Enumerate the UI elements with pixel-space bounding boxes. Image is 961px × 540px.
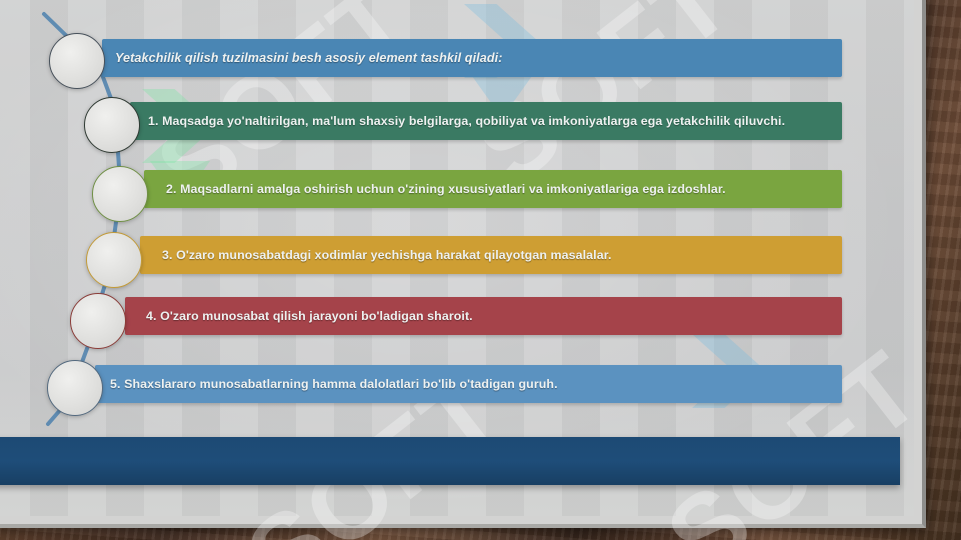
slide-content: Yetakchilik qilish tuzilmasini besh asos… xyxy=(0,0,914,516)
node-circle-2[interactable] xyxy=(92,166,148,222)
presentation-photo: SOFT SOFT SOFT SOFT xyxy=(0,0,961,540)
item-label-3: 3. O'zaro munosabatdagi xodimlar yechish… xyxy=(162,248,611,262)
node-circle-5[interactable] xyxy=(47,360,103,416)
projector-screen-frame: SOFT SOFT SOFT SOFT xyxy=(0,0,926,528)
footer-band xyxy=(0,437,900,485)
title-label: Yetakchilik qilish tuzilmasini besh asos… xyxy=(115,51,503,65)
node-circle-4[interactable] xyxy=(70,293,126,349)
item-label-4: 4. O'zaro munosabat qilish jarayoni bo'l… xyxy=(146,309,473,323)
node-circle-3[interactable] xyxy=(86,232,142,288)
item-bar-1[interactable]: 1. Maqsadga yo'naltirilgan, ma'lum shaxs… xyxy=(130,102,842,140)
item-bar-3[interactable]: 3. O'zaro munosabatdagi xodimlar yechish… xyxy=(140,236,842,274)
node-circle-1[interactable] xyxy=(84,97,140,153)
projector-screen-surface: SOFT SOFT SOFT SOFT xyxy=(0,0,914,516)
item-label-1: 1. Maqsadga yo'naltirilgan, ma'lum shaxs… xyxy=(148,114,785,128)
item-bar-2[interactable]: 2. Maqsadlarni amalga oshirish uchun o'z… xyxy=(144,170,842,208)
title-bar[interactable]: Yetakchilik qilish tuzilmasini besh asos… xyxy=(102,39,842,77)
item-label-5: 5. Shaxslararo munosabatlarning hamma da… xyxy=(110,377,558,391)
item-bar-5[interactable]: 5. Shaxslararo munosabatlarning hamma da… xyxy=(95,365,842,403)
item-bar-4[interactable]: 4. O'zaro munosabat qilish jarayoni bo'l… xyxy=(125,297,842,335)
item-label-2: 2. Maqsadlarni amalga oshirish uchun o'z… xyxy=(166,182,726,196)
node-circle-title[interactable] xyxy=(49,33,105,89)
